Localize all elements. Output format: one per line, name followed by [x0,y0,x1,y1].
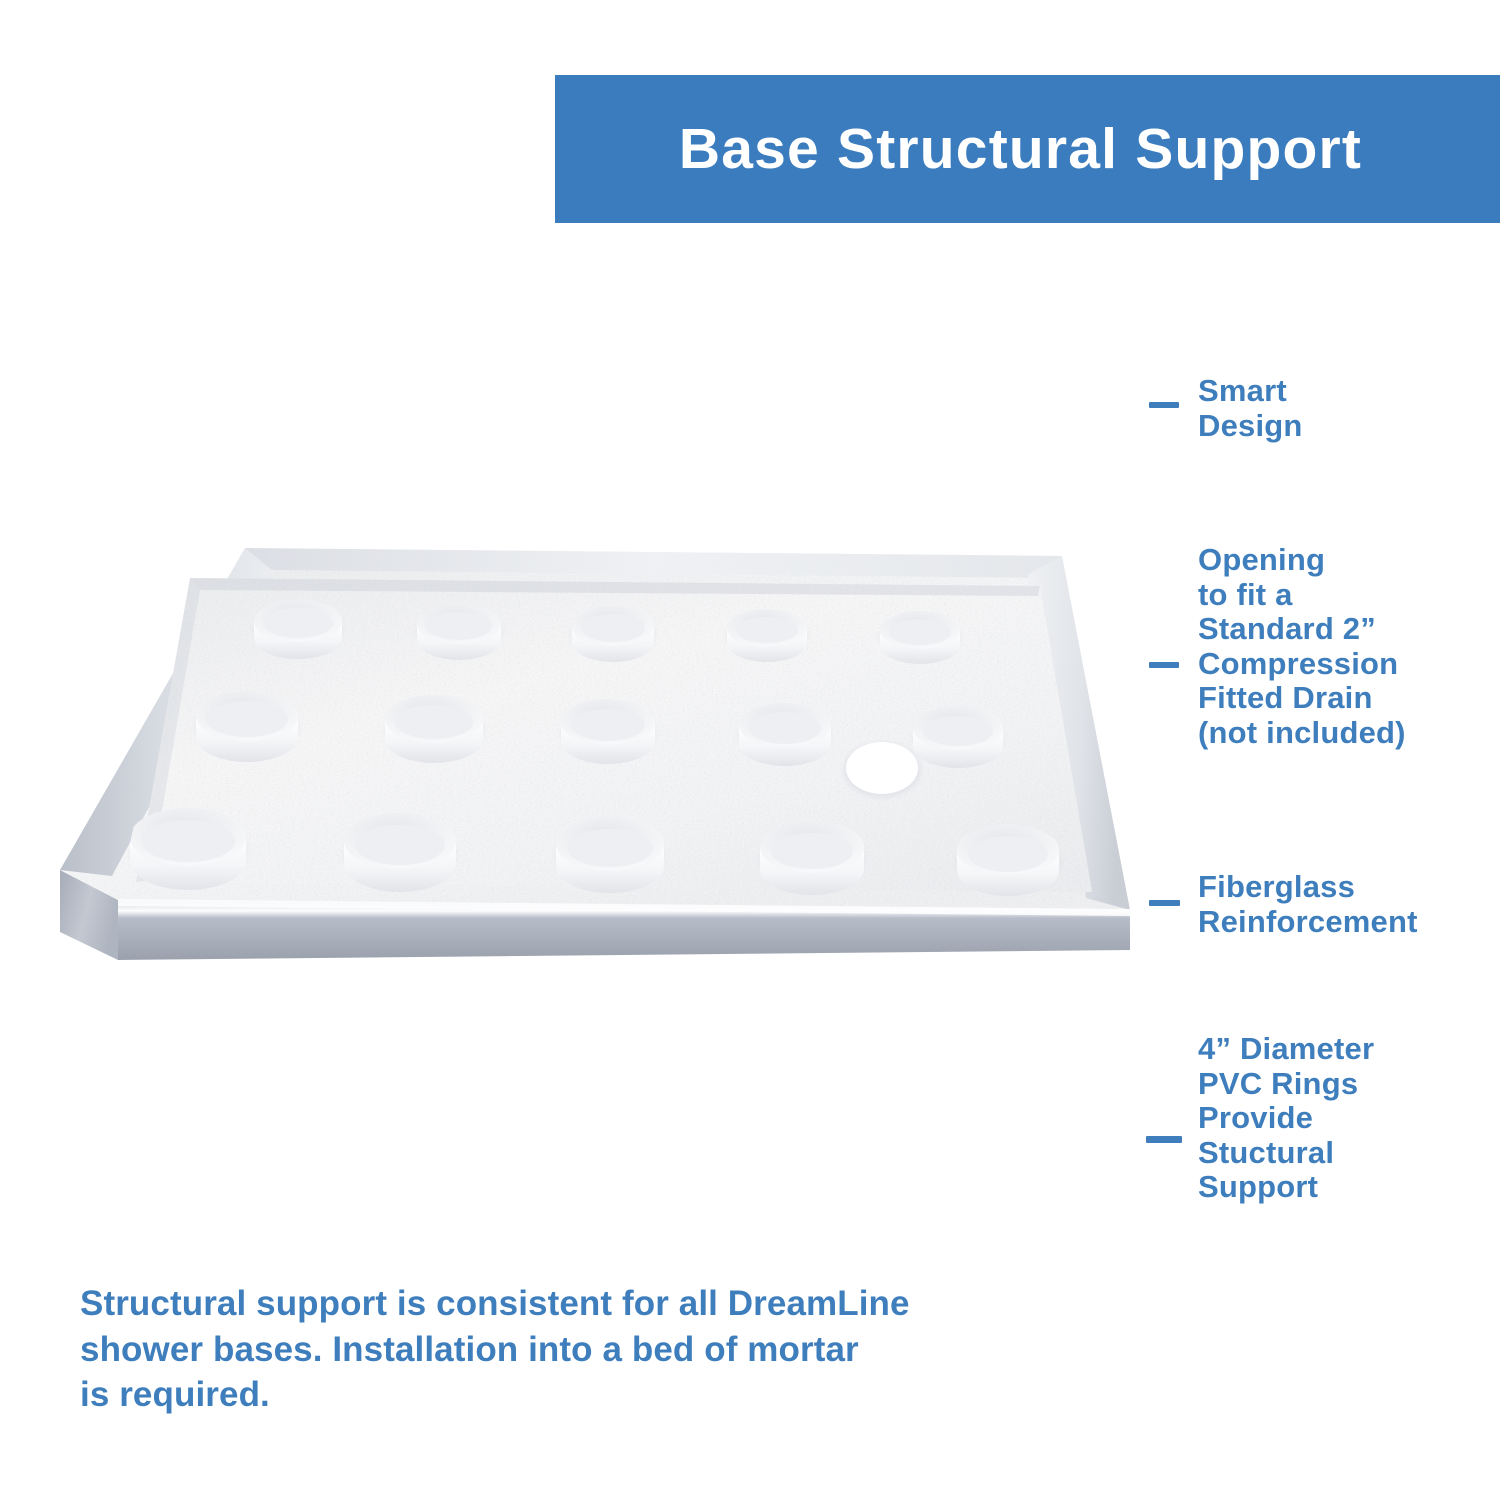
callout-dash-smart-design [1149,402,1179,408]
pvc-ring [556,817,664,893]
callout-dash-drain-opening [1149,662,1179,668]
pvc-ring [417,604,501,660]
pvc-ring [760,821,864,895]
pvc-ring [913,706,1003,768]
shower-base-graphic [40,520,1160,1000]
pvc-ring [561,699,655,764]
pvc-ring [344,813,456,892]
page-title: Base Structural Support [679,116,1362,182]
footer-note: Structural support is consistent for all… [80,1281,980,1418]
callout-label-pvc-rings: 4” Diameter PVC Rings Provide Stuctural … [1198,1032,1374,1205]
pvc-ring [254,600,342,659]
callout-dash-fiberglass [1149,900,1180,906]
shower-base-illustration [40,520,1160,1000]
callout-label-drain-opening: Opening to fit a Standard 2” Compression… [1198,543,1406,750]
pvc-ring [739,703,831,766]
pvc-ring [130,808,246,890]
pvc-ring [727,609,807,662]
callout-label-fiberglass: Fiberglass Reinforcement [1198,870,1418,939]
pvc-ring [572,606,654,662]
pvc-ring [385,695,483,763]
pvc-ring [196,691,298,762]
header-banner: Base Structural Support [555,75,1500,223]
pvc-ring [880,611,960,664]
pvc-ring [957,825,1059,896]
callout-dash-pvc-rings [1146,1136,1182,1143]
callout-label-smart-design: Smart Design [1198,374,1303,443]
